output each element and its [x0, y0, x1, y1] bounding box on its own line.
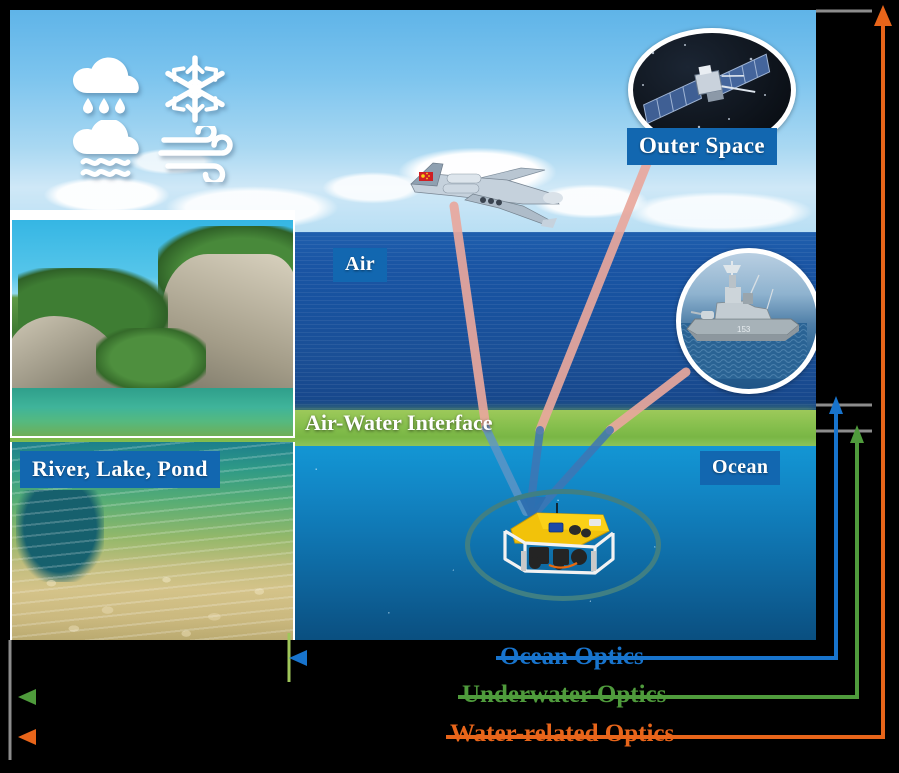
- river-photo-foliage-mid: [96, 328, 206, 390]
- legend-label-water-related-optics: Water-related Optics: [450, 720, 674, 748]
- label-air-water-interface: Air-Water Interface: [305, 410, 493, 446]
- naval-ship-artwork: 153: [681, 253, 807, 379]
- river-photo-frame: [10, 210, 295, 438]
- underwater-optics-arrowhead-up: [850, 425, 864, 443]
- legend-label-underwater-optics: Underwater Optics: [462, 681, 666, 709]
- river-photo: [12, 220, 293, 436]
- label-river-lake-pond: River, Lake, Pond: [20, 451, 220, 488]
- wind-icon: [158, 126, 238, 182]
- label-outer-space: Outer Space: [627, 128, 777, 165]
- water-related-optics-arrowhead-left: [18, 729, 36, 745]
- legend-label-ocean-optics: Ocean Optics: [500, 643, 644, 671]
- uav-drone-artwork: [403, 150, 573, 230]
- snowflake-icon: [160, 54, 230, 124]
- satellite-artwork: [633, 33, 781, 137]
- river-photo-water: [12, 388, 293, 436]
- rain-cloud-icon: [68, 56, 146, 118]
- ocean-optics-arrowhead-left: [289, 650, 307, 666]
- scene-composite: 153: [10, 10, 816, 640]
- rov-submersible-artwork: [491, 503, 623, 577]
- fog-cloud-icon: [68, 120, 146, 178]
- label-air: Air: [333, 248, 387, 282]
- underwater-optics-arrowhead-left: [18, 689, 36, 705]
- svg-text:153: 153: [737, 325, 751, 334]
- label-ocean: Ocean: [700, 451, 780, 485]
- diagram-canvas: 153: [0, 0, 899, 773]
- naval-ship-inset: 153: [676, 248, 816, 394]
- ocean-optics-arrowhead-up: [829, 396, 843, 414]
- water-related-optics-arrowhead-up: [874, 5, 892, 26]
